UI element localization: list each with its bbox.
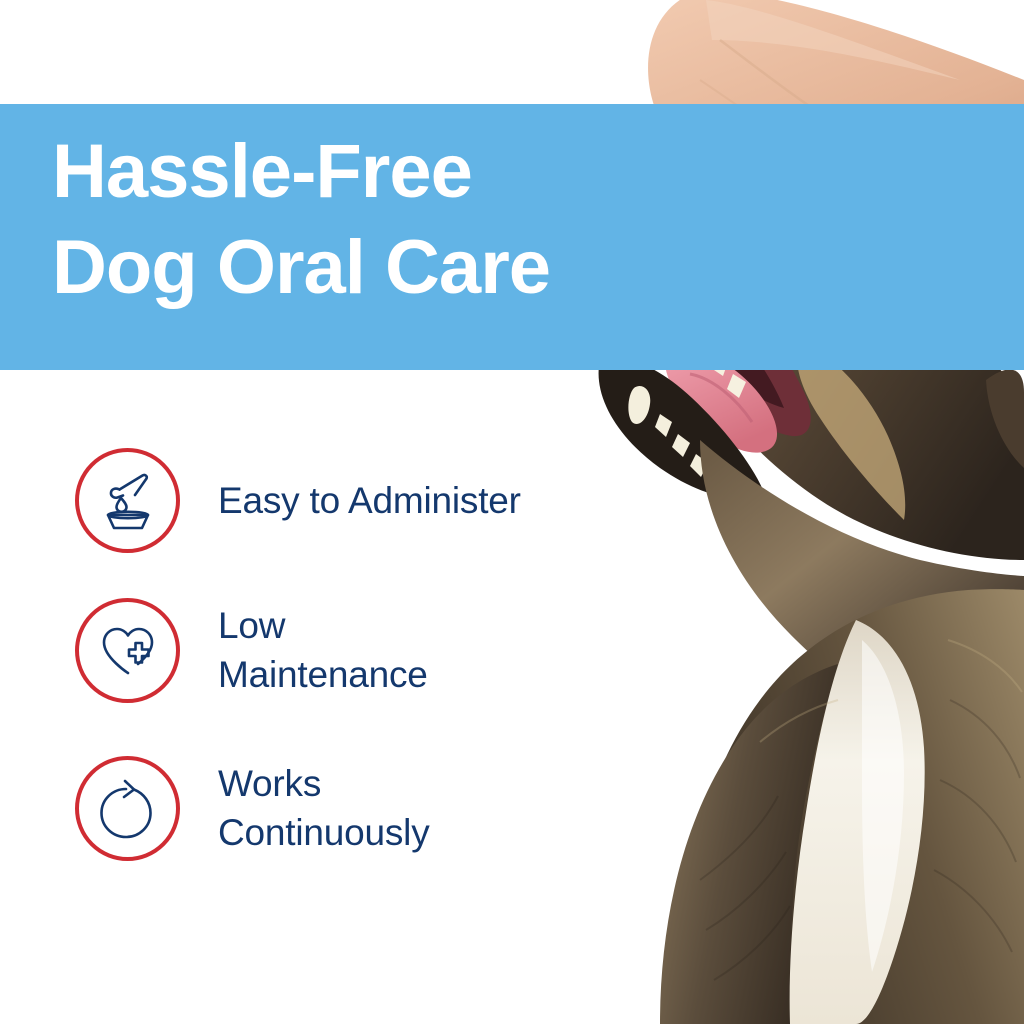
dropper-over-bowl-icon [97,469,159,531]
heart-with-medical-cross-icon [97,619,159,681]
page-title: Hassle-Free Dog Oral Care [52,124,672,316]
dog-body-left-shoulder [660,664,838,1024]
feature-label: Easy to Administer [218,476,521,525]
feature-icon-badge [75,448,180,553]
feature-item-easy-to-administer: Easy to Administer [75,445,595,555]
headline-banner: Hassle-Free Dog Oral Care [0,104,1024,370]
feature-label: Low Maintenance [218,601,428,699]
arm-shadow-upper [706,0,960,80]
feature-icon-badge [75,598,180,703]
feature-item-works-continuously: Works Continuously [75,753,595,863]
feature-item-low-maintenance: Low Maintenance [75,595,595,705]
dog-chest-ruff [790,620,925,1024]
chest-ruff-highlight [862,640,904,972]
dog-body [676,589,1024,1024]
dog-lower-teeth [628,386,726,494]
dog-neck [700,440,1024,760]
dog-ear [986,370,1024,468]
circular-arrow-refresh-icon [97,777,159,839]
promo-banner-canvas: Hassle-Free Dog Oral Care [0,0,1024,1024]
feature-icon-badge [75,756,180,861]
feature-label: Works Continuously [218,759,430,857]
title-line-2: Dog Oral Care [52,220,672,316]
dog-lower-jaw [599,358,764,498]
title-line-1: Hassle-Free [52,124,672,220]
